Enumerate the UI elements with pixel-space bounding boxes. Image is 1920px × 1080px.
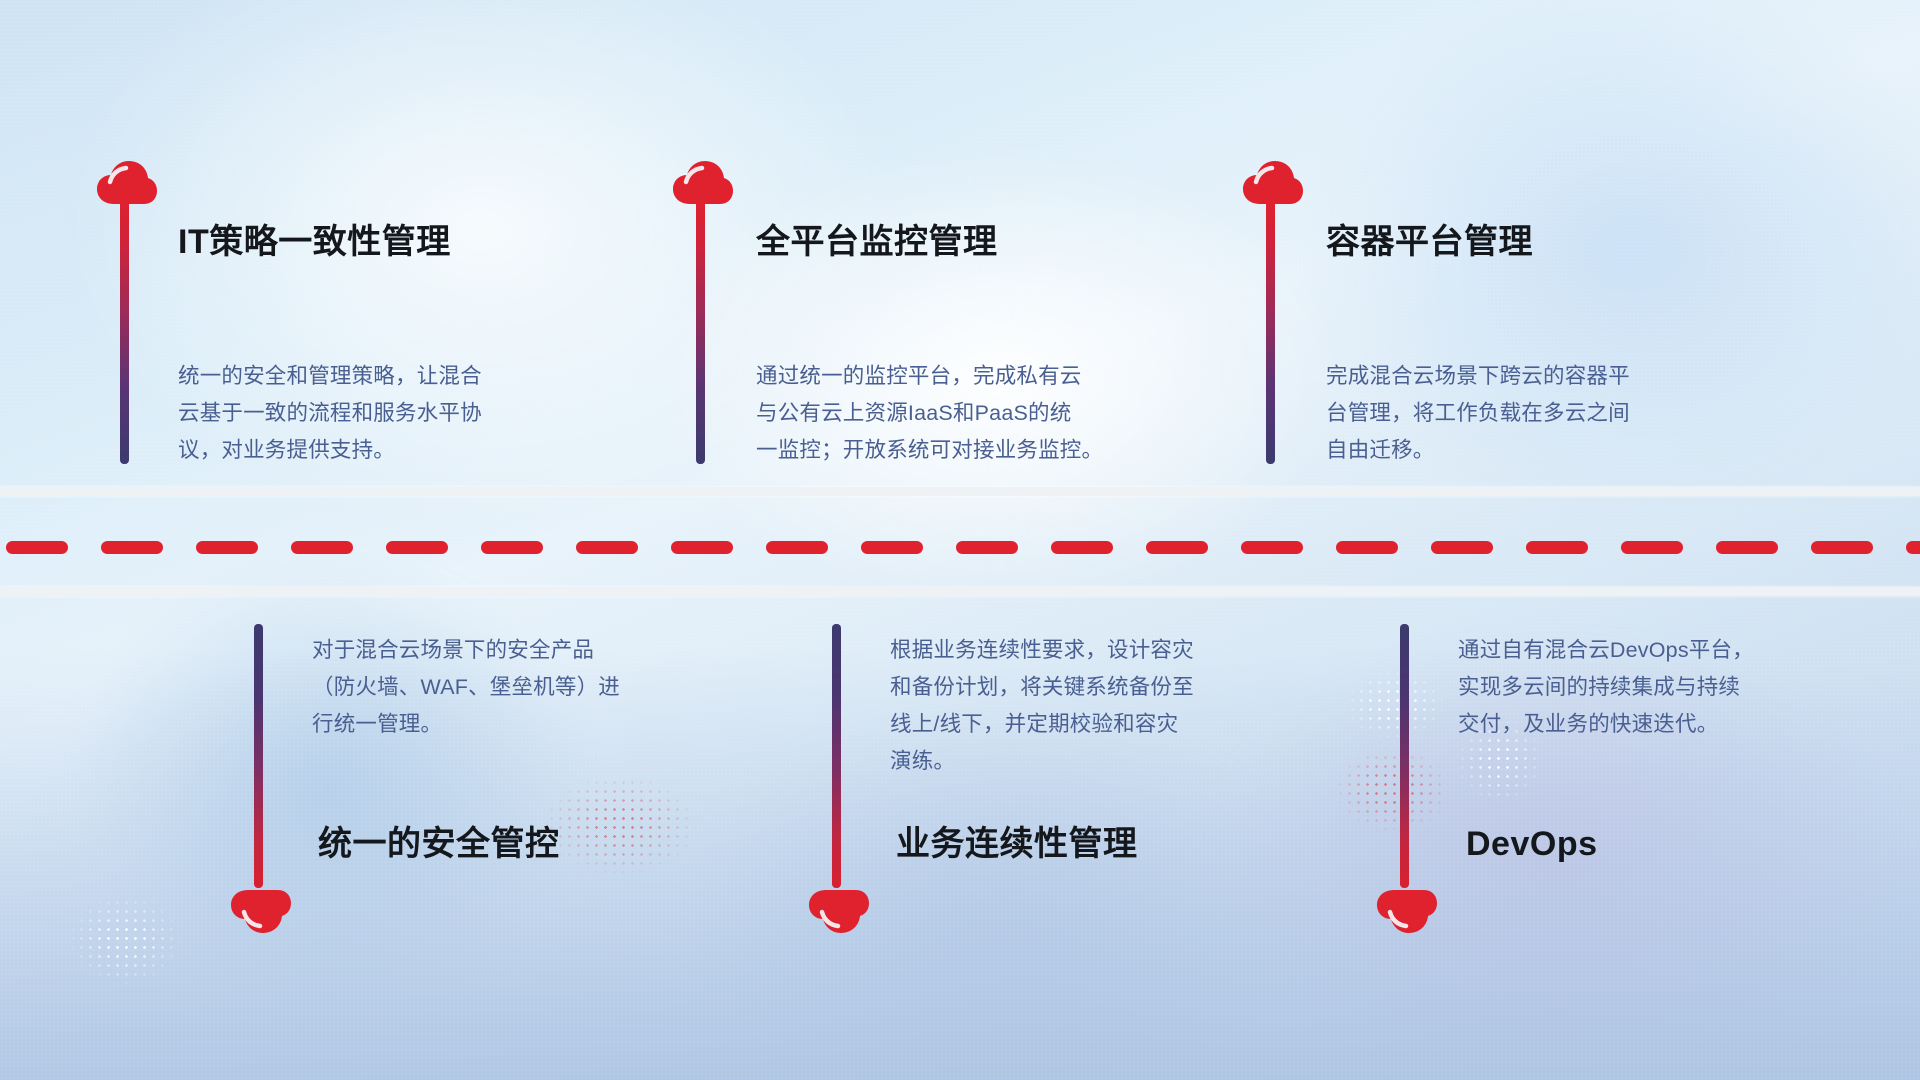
- body-line: （防火墙、WAF、堡垒机等）进: [312, 669, 672, 706]
- road-dashed-centerline: [0, 540, 1920, 554]
- road-dash: [766, 541, 828, 554]
- road-dash: [6, 541, 68, 554]
- road-dash: [671, 541, 733, 554]
- road-dash: [1431, 541, 1493, 554]
- road-dash: [1716, 541, 1778, 554]
- decorative-dots-white: [50, 880, 200, 1000]
- body-line: 演练。: [890, 743, 1262, 780]
- cloud-icon: [1242, 160, 1304, 206]
- body-line: 交付，及业务的快速迭代。: [1458, 706, 1818, 743]
- road-dash: [1526, 541, 1588, 554]
- card-body: 根据业务连续性要求，设计容灾 和备份计划，将关键系统备份至 线上/线下，并定期校…: [890, 632, 1262, 780]
- connector-stem: [696, 200, 705, 464]
- card-body: 统一的安全和管理策略，让混合 云基于一致的流程和服务水平协 议，对业务提供支持。: [178, 358, 538, 469]
- body-line: 完成混合云场景下跨云的容器平: [1326, 358, 1686, 395]
- body-line: 和备份计划，将关键系统备份至: [890, 669, 1262, 706]
- road-edge-line-top: [0, 487, 1920, 496]
- connector-stem: [120, 200, 129, 464]
- body-line: 线上/线下，并定期校验和容灾: [890, 706, 1262, 743]
- body-line: 实现多云间的持续集成与持续: [1458, 669, 1818, 706]
- connector-stem: [1266, 200, 1275, 464]
- card-body: 通过自有混合云DevOps平台， 实现多云间的持续集成与持续 交付，及业务的快速…: [1458, 632, 1818, 743]
- connector-stem: [1400, 624, 1409, 888]
- card-title: 全平台监控管理: [756, 222, 998, 263]
- road-dash: [1146, 541, 1208, 554]
- road-dash: [291, 541, 353, 554]
- road-dash: [1906, 541, 1920, 554]
- cloud-icon: [96, 160, 158, 206]
- card-body: 对于混合云场景下的安全产品 （防火墙、WAF、堡垒机等）进 行统一管理。: [312, 632, 672, 743]
- body-line: 议，对业务提供支持。: [178, 432, 538, 469]
- body-line: 通过自有混合云DevOps平台，: [1458, 632, 1818, 669]
- road-dash: [196, 541, 258, 554]
- road-dash: [1336, 541, 1398, 554]
- cloud-icon: [1376, 888, 1438, 934]
- card-title: 业务连续性管理: [896, 824, 1138, 865]
- card-body: 完成混合云场景下跨云的容器平 台管理，将工作负载在多云之间 自由迁移。: [1326, 358, 1686, 469]
- road-dash: [1621, 541, 1683, 554]
- road-dash: [1051, 541, 1113, 554]
- body-line: 行统一管理。: [312, 706, 672, 743]
- body-line: 台管理，将工作负载在多云之间: [1326, 395, 1686, 432]
- card-title: IT策略一致性管理: [178, 222, 451, 263]
- body-line: 自由迁移。: [1326, 432, 1686, 469]
- infographic-canvas: IT策略一致性管理 统一的安全和管理策略，让混合 云基于一致的流程和服务水平协 …: [0, 0, 1920, 1080]
- card-title: DevOps: [1466, 824, 1598, 865]
- road-dash: [481, 541, 543, 554]
- road-dash: [386, 541, 448, 554]
- body-line: 与公有云上资源IaaS和PaaS的统: [756, 395, 1128, 432]
- road-dash: [576, 541, 638, 554]
- cloud-icon: [230, 888, 292, 934]
- body-line: 一监控；开放系统可对接业务监控。: [756, 432, 1128, 469]
- cloud-icon: [672, 160, 734, 206]
- road-dash: [956, 541, 1018, 554]
- road-dash: [861, 541, 923, 554]
- body-line: 通过统一的监控平台，完成私有云: [756, 358, 1128, 395]
- road-dash: [1241, 541, 1303, 554]
- body-line: 对于混合云场景下的安全产品: [312, 632, 672, 669]
- body-line: 云基于一致的流程和服务水平协: [178, 395, 538, 432]
- connector-stem: [254, 624, 263, 888]
- card-title: 统一的安全管控: [318, 824, 560, 865]
- cloud-icon: [808, 888, 870, 934]
- road-dash: [1811, 541, 1873, 554]
- card-body: 通过统一的监控平台，完成私有云 与公有云上资源IaaS和PaaS的统 一监控；开…: [756, 358, 1128, 469]
- connector-stem: [832, 624, 841, 888]
- road-edge-line-bottom: [0, 587, 1920, 596]
- road-dash: [101, 541, 163, 554]
- body-line: 统一的安全和管理策略，让混合: [178, 358, 538, 395]
- card-title: 容器平台管理: [1326, 222, 1533, 263]
- body-line: 根据业务连续性要求，设计容灾: [890, 632, 1262, 669]
